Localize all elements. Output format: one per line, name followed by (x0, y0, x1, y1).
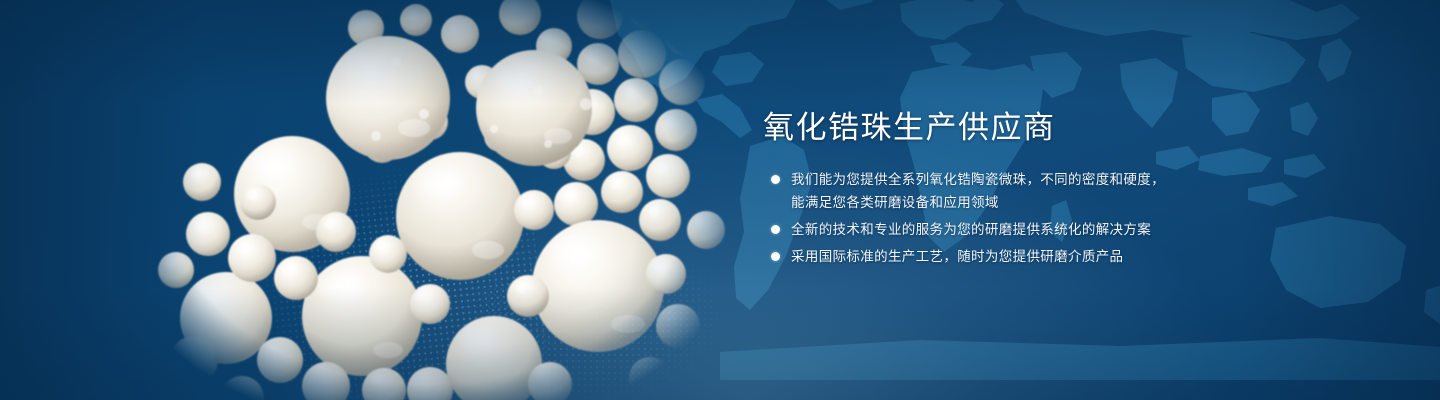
list-item-line-1: 采用国际标准的生产工艺，随时为您提供研磨介质产品 (791, 249, 1123, 264)
feature-list: 我们能为您提供全系列氧化锆陶瓷微珠，不同的密度和硬度， 能满足您各类研磨设备和应… (763, 168, 1383, 268)
bullet-dot-icon (771, 175, 780, 184)
list-item: 采用国际标准的生产工艺，随时为您提供研磨介质产品 (763, 245, 1383, 268)
list-item: 全新的技术和专业的服务为您的研磨提供系统化的解决方案 (763, 218, 1383, 241)
list-item-line-1: 我们能为您提供全系列氧化锆陶瓷微珠，不同的密度和硬度， (791, 172, 1165, 187)
list-item-label: 我们能为您提供全系列氧化锆陶瓷微珠，不同的密度和硬度， 能满足您各类研磨设备和应… (791, 168, 1383, 214)
list-item-label: 全新的技术和专业的服务为您的研磨提供系统化的解决方案 (791, 218, 1383, 241)
list-item: 我们能为您提供全系列氧化锆陶瓷微珠，不同的密度和硬度， 能满足您各类研磨设备和应… (763, 168, 1383, 214)
bullet-dot-icon (771, 225, 780, 234)
bullet-dot-icon (771, 252, 780, 261)
banner-copy: 氧化锆珠生产供应商 我们能为您提供全系列氧化锆陶瓷微珠，不同的密度和硬度， 能满… (763, 108, 1383, 272)
page-title: 氧化锆珠生产供应商 (763, 108, 1383, 148)
list-item-label: 采用国际标准的生产工艺，随时为您提供研磨介质产品 (791, 245, 1383, 268)
list-item-line-2: 能满足您各类研磨设备和应用领域 (791, 191, 1383, 214)
hero-banner: 氧化锆珠生产供应商 我们能为您提供全系列氧化锆陶瓷微珠，不同的密度和硬度， 能满… (0, 0, 1440, 400)
list-item-line-1: 全新的技术和专业的服务为您的研磨提供系统化的解决方案 (791, 222, 1151, 237)
